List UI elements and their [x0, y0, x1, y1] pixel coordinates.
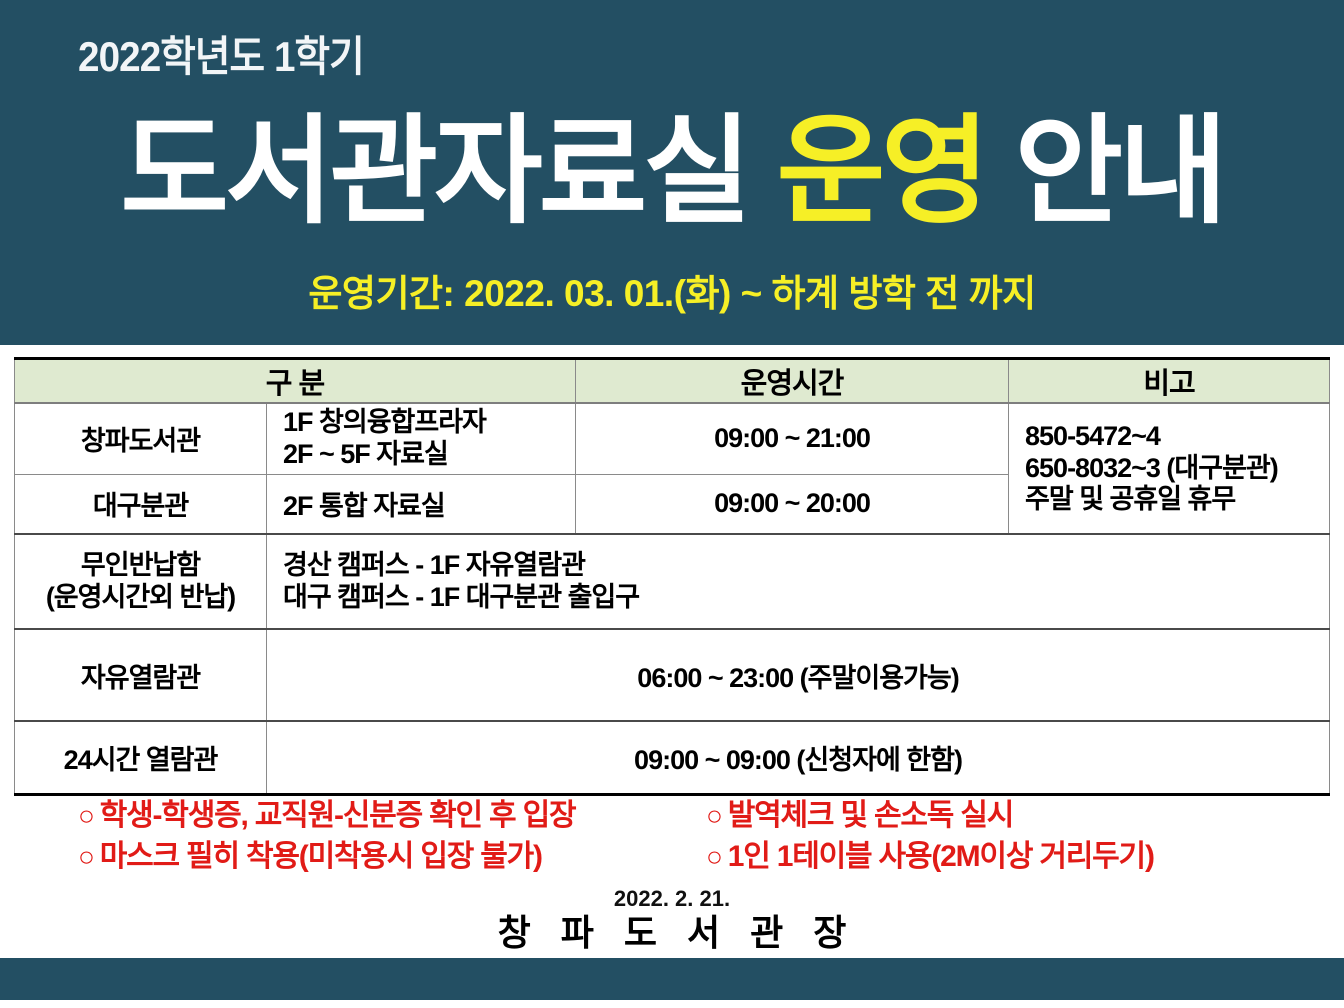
circle-bullet-icon: ○	[78, 841, 94, 872]
remarks-line-2: 650-8032~3 (대구분관)	[1025, 453, 1329, 485]
place-line-1: 1F 창의융합프라자	[283, 407, 575, 439]
book-drop-location-line-2: 대구 캠퍼스 - 1F 대구분관 출입구	[283, 582, 1329, 614]
row-place-book-drop: 경산 캠퍼스 - 1F 자유열람관 대구 캠퍼스 - 1F 대구분관 출입구	[267, 534, 1330, 629]
notice-item: ○마스크 필히 착용(미착용시 입장 불가)	[78, 842, 542, 872]
circle-bullet-icon: ○	[78, 800, 94, 831]
semester-label: 2022학년도 1학기	[78, 36, 364, 78]
row-hours-open-reading-room: 06:00 ~ 23:00 (주말이용가능)	[267, 629, 1330, 721]
table-row: 무인반납함 (운영시간외 반납) 경산 캠퍼스 - 1F 자유열람관 대구 캠퍼…	[15, 534, 1330, 629]
poster-footer-band	[0, 958, 1344, 1000]
row-place-daegu-branch: 2F 통합 자료실	[267, 474, 576, 534]
row-label-daegu-branch: 대구분관	[15, 474, 267, 534]
notice-item: ○발역체크 및 손소독 실시	[706, 801, 1013, 831]
notice-text: 발역체크 및 손소독 실시	[728, 799, 1013, 832]
book-drop-location-line-1: 경산 캠퍼스 - 1F 자유열람관	[283, 550, 1329, 582]
notice-text: 학생-학생증, 교직원-신분증 확인 후 입장	[100, 799, 576, 832]
column-header-hours: 운영시간	[576, 359, 1009, 404]
issuer-name: 창 파 도 서 관 장	[0, 915, 1344, 951]
notice-text: 마스크 필히 착용(미착용시 입장 불가)	[100, 840, 542, 873]
issue-date: 2022. 2. 21.	[0, 888, 1344, 910]
book-drop-label-line-1: 무인반납함	[15, 550, 266, 582]
table-header-row: 구 분 운영시간 비고	[15, 359, 1330, 404]
operating-period-label: 운영기간: 2022. 03. 01.(화) ~ 하계 방학 전 까지	[0, 275, 1344, 312]
column-header-category: 구 분	[15, 359, 576, 404]
page-title: 도서관자료실 운영 안내	[0, 106, 1344, 238]
table-row: 24시간 열람관 09:00 ~ 09:00 (신청자에 한함)	[15, 721, 1330, 794]
table-row: 자유열람관 06:00 ~ 23:00 (주말이용가능)	[15, 629, 1330, 721]
row-hours-24h-reading-room: 09:00 ~ 09:00 (신청자에 한함)	[267, 721, 1330, 794]
row-label-24h-reading-room: 24시간 열람관	[15, 721, 267, 794]
table-row: 창파도서관 1F 창의융합프라자 2F ~ 5F 자료실 09:00 ~ 21:…	[15, 403, 1330, 474]
notice-text: 1인 1테이블 사용(2M이상 거리두기)	[728, 840, 1154, 873]
row-remarks-contact: 850-5472~4 650-8032~3 (대구분관) 주말 및 공휴일 휴무	[1009, 403, 1330, 534]
title-part-2: 안내	[986, 106, 1224, 238]
remarks-line-1: 850-5472~4	[1025, 421, 1329, 453]
poster-header-band: 2022학년도 1학기 도서관자료실 운영 안내 운영기간: 2022. 03.…	[0, 0, 1344, 345]
book-drop-label-line-2: (운영시간외 반납)	[15, 582, 266, 614]
remarks-line-3: 주말 및 공휴일 휴무	[1025, 484, 1329, 516]
row-place-changpa-library: 1F 창의융합프라자 2F ~ 5F 자료실	[267, 403, 576, 474]
row-hours-daegu-branch: 09:00 ~ 20:00	[576, 474, 1009, 534]
column-header-remarks: 비고	[1009, 359, 1330, 404]
row-hours-changpa-library: 09:00 ~ 21:00	[576, 403, 1009, 474]
operating-hours-table: 구 분 운영시간 비고 창파도서관 1F 창의융합프라자 2F ~ 5F 자료실…	[14, 357, 1330, 796]
notice-item: ○학생-학생증, 교직원-신분증 확인 후 입장	[78, 801, 575, 831]
title-part-1: 도서관자료실	[120, 106, 776, 238]
place-line-2: 2F ~ 5F 자료실	[283, 439, 575, 471]
covid-notice-list: ○학생-학생증, 교직원-신분증 확인 후 입장 ○발역체크 및 손소독 실시 …	[0, 797, 1344, 883]
row-label-changpa-library: 창파도서관	[15, 403, 267, 474]
notice-item: ○1인 1테이블 사용(2M이상 거리두기)	[706, 842, 1154, 872]
circle-bullet-icon: ○	[706, 841, 722, 872]
circle-bullet-icon: ○	[706, 800, 722, 831]
row-label-book-drop: 무인반납함 (운영시간외 반납)	[15, 534, 267, 629]
row-label-open-reading-room: 자유열람관	[15, 629, 267, 721]
title-highlight: 운영	[777, 106, 986, 238]
